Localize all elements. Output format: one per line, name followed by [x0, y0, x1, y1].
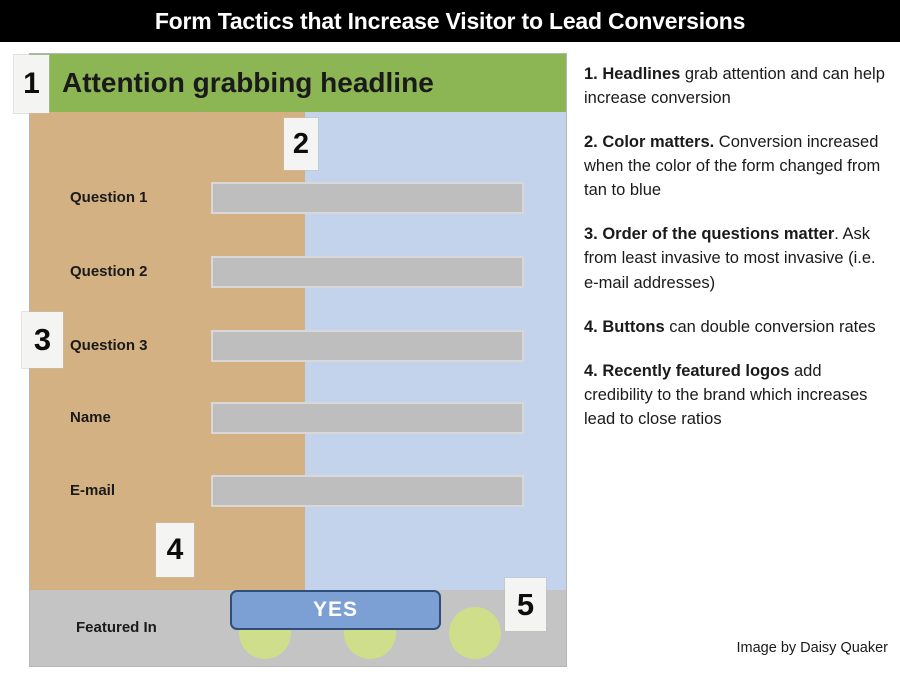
form-field-label: E-mail	[70, 472, 115, 510]
annotation-list: 1. Headlines grab attention and can help…	[584, 62, 888, 451]
annotation-lead: 3. Order of the questions matter	[584, 225, 834, 243]
annotation-lead: 2. Color matters.	[584, 133, 714, 151]
annotation-item: 4. Buttons can double conversion rates	[584, 315, 888, 339]
form-field-input[interactable]	[211, 330, 524, 362]
callout-badge-1: 1	[14, 55, 49, 113]
form-headline-bar: Attention grabbing headline	[30, 54, 566, 112]
callout-badge-3: 3	[22, 312, 63, 368]
form-field-input[interactable]	[211, 182, 524, 214]
form-field-row: Question 3	[30, 327, 566, 365]
form-field-row: Question 2	[30, 253, 566, 291]
callout-badge-5: 5	[505, 578, 546, 631]
form-field-label: Name	[70, 399, 111, 437]
annotation-item: 1. Headlines grab attention and can help…	[584, 62, 888, 110]
form-field-row: E-mail	[30, 472, 566, 510]
callout-badge-2: 2	[284, 118, 318, 170]
form-field-input[interactable]	[211, 402, 524, 434]
form-field-label: Question 1	[70, 179, 148, 217]
annotation-lead: 1. Headlines	[584, 65, 680, 83]
form-field-label: Question 2	[70, 253, 148, 291]
title-bar: Form Tactics that Increase Visitor to Le…	[0, 0, 900, 42]
form-field-input[interactable]	[211, 256, 524, 288]
annotation-lead: 4. Recently featured logos	[584, 362, 789, 380]
annotation-lead: 4. Buttons	[584, 318, 665, 336]
featured-in-label: Featured In	[76, 590, 157, 666]
form-field-row: Question 1	[30, 179, 566, 217]
form-field-input[interactable]	[211, 475, 524, 507]
annotation-item: 3. Order of the questions matter. Ask fr…	[584, 222, 888, 294]
callout-badge-4: 4	[156, 523, 194, 577]
form-headline-text: Attention grabbing headline	[62, 54, 434, 112]
featured-logo-placeholder	[449, 607, 501, 659]
submit-button[interactable]: YES	[230, 590, 441, 630]
annotation-item: 2. Color matters. Conversion increased w…	[584, 130, 888, 202]
page-title: Form Tactics that Increase Visitor to Le…	[0, 0, 900, 42]
annotation-item: 4. Recently featured logos add credibili…	[584, 359, 888, 431]
form-field-label: Question 3	[70, 327, 148, 365]
form-field-row: Name	[30, 399, 566, 437]
infographic-canvas: Form Tactics that Increase Visitor to Le…	[0, 0, 900, 675]
annotation-body: can double conversion rates	[665, 318, 876, 336]
image-credit: Image by Daisy Quaker	[584, 640, 888, 656]
